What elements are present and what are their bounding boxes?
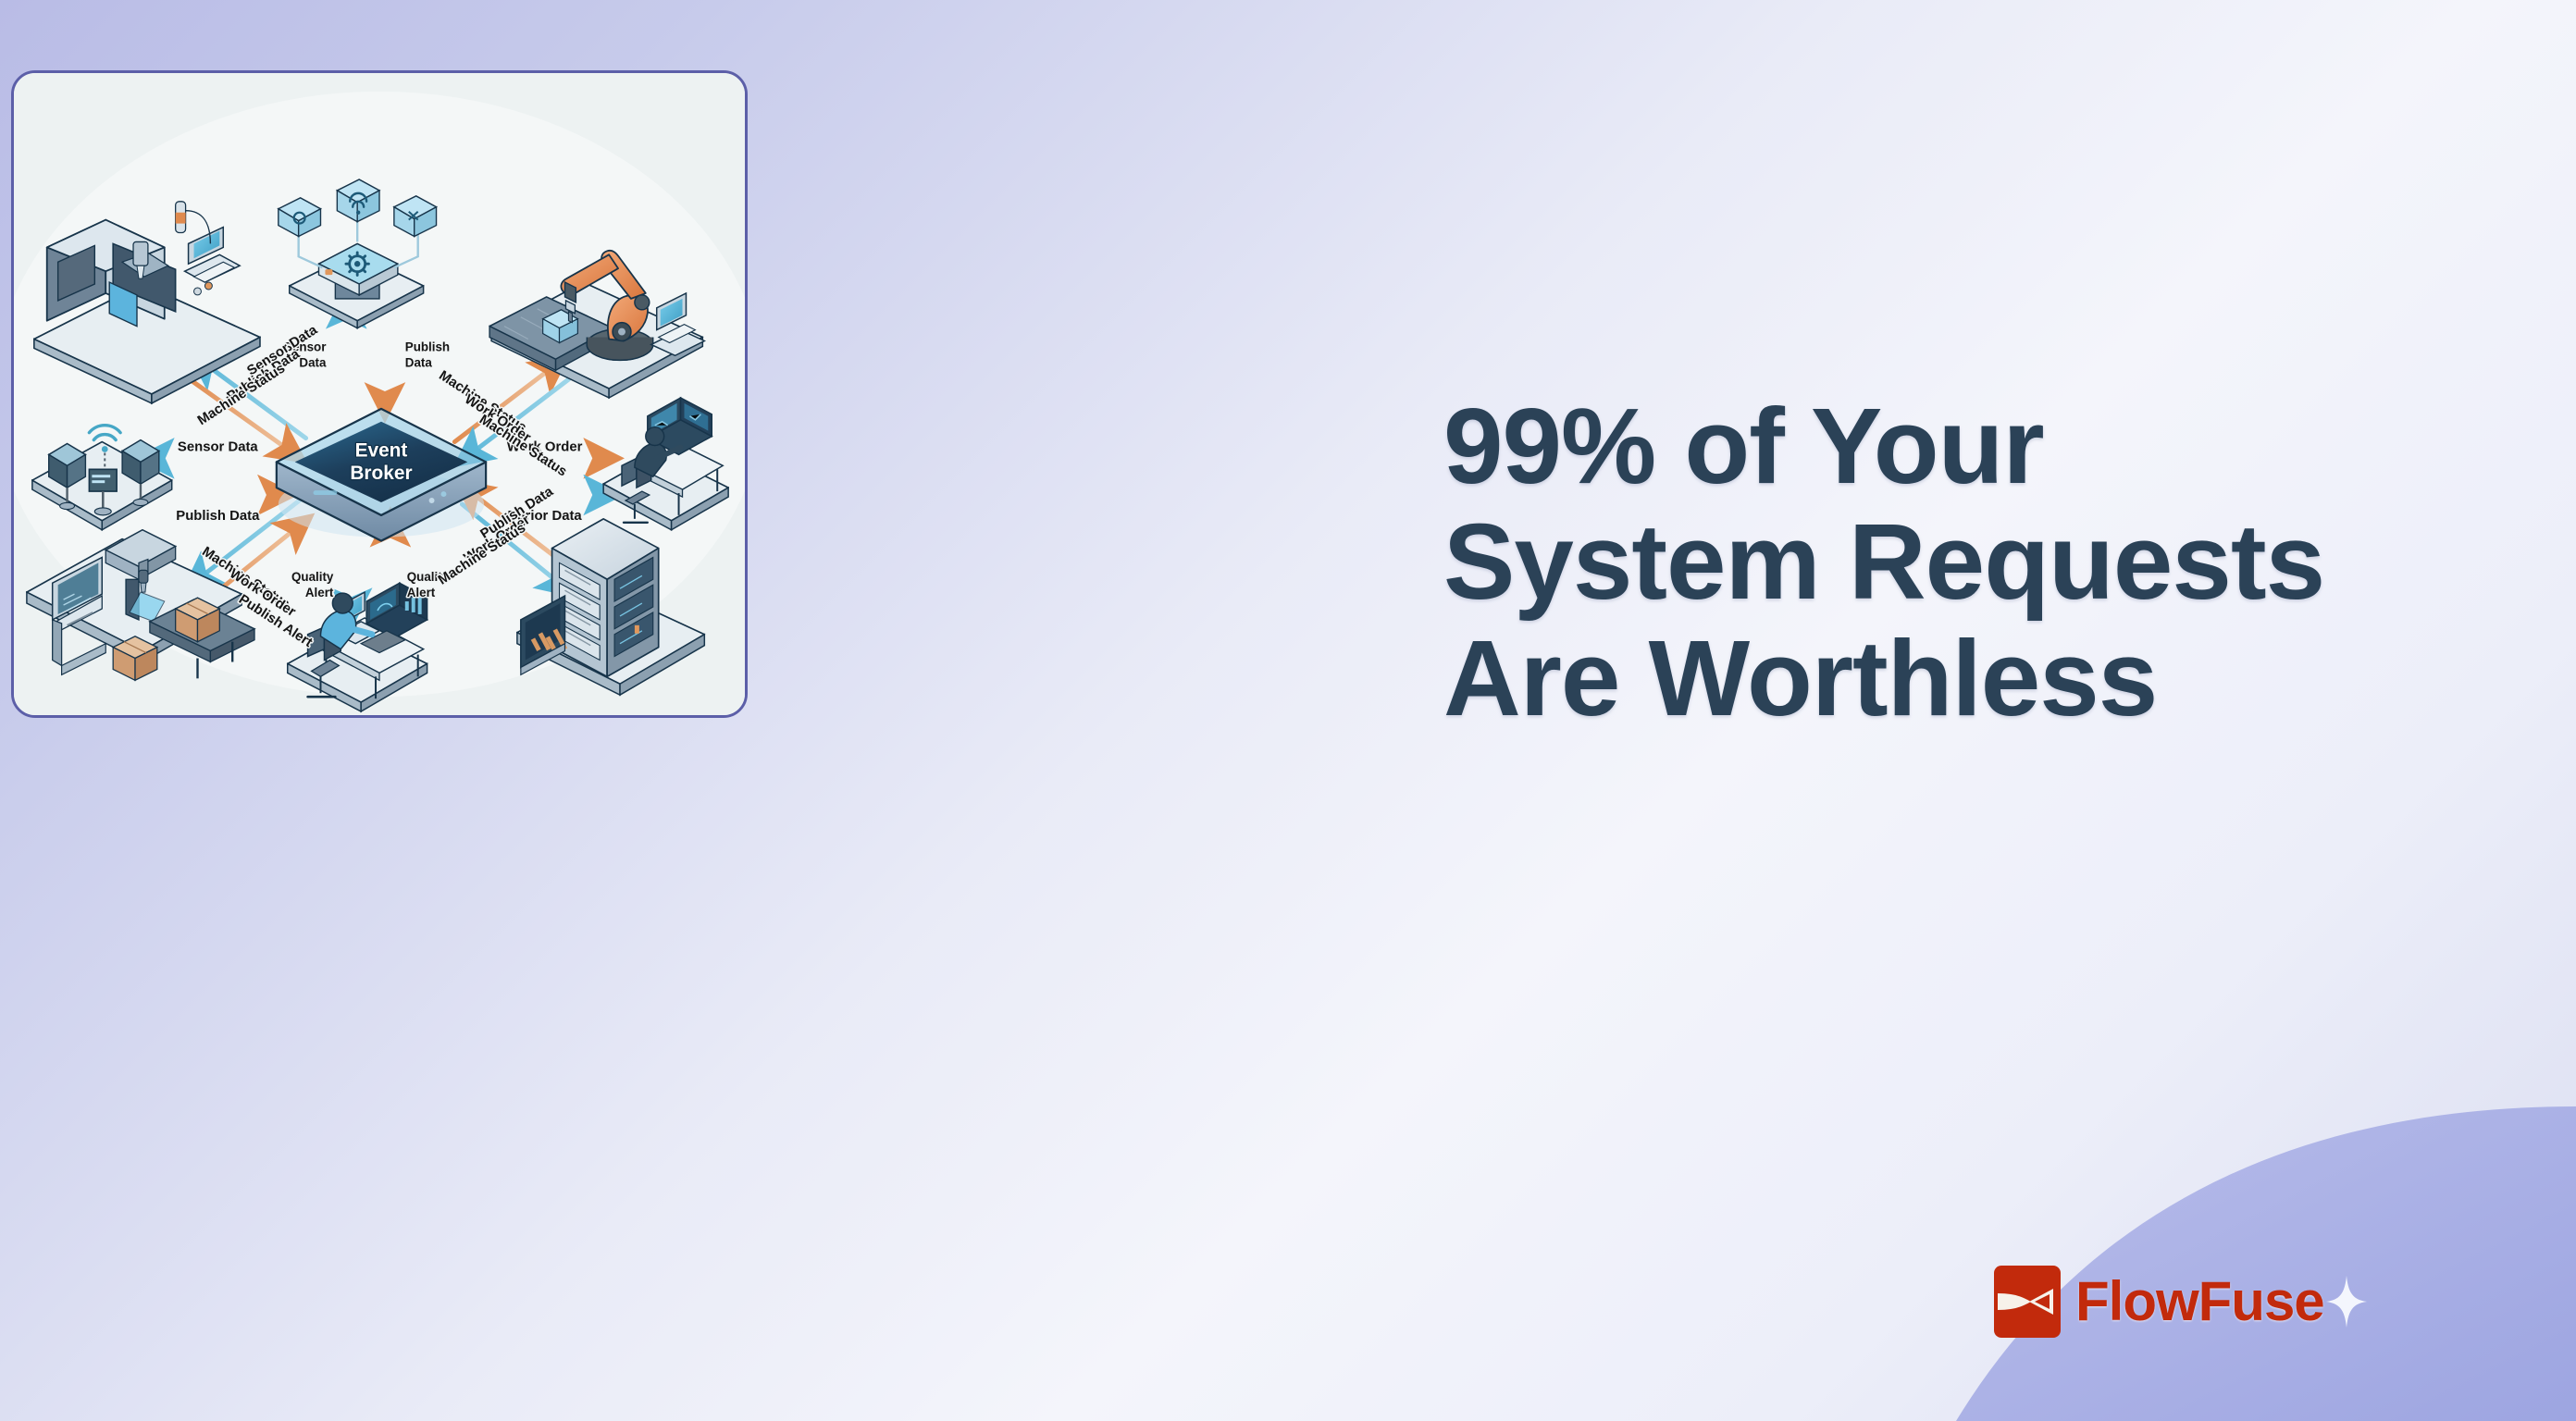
svg-text:Data: Data xyxy=(405,355,433,369)
svg-text:Quality: Quality xyxy=(291,570,334,584)
edge-label-left-out: Sensor Data xyxy=(178,439,258,454)
sparkle-icon xyxy=(2326,1276,2367,1328)
svg-text:Alert: Alert xyxy=(407,586,436,599)
hub-label-line1: Event xyxy=(355,439,408,461)
svg-text:Alert: Alert xyxy=(305,586,334,599)
event-broker-diagram: Event Broker xyxy=(14,73,745,715)
svg-text:Data: Data xyxy=(299,355,327,369)
page-title: 99% of Your System Requests Are Worthles… xyxy=(1443,389,2535,736)
svg-text:Publish: Publish xyxy=(405,340,450,353)
flowfuse-logo-mark xyxy=(1994,1266,2061,1338)
brand-name: FlowFuse xyxy=(2075,1274,2324,1329)
diagram-card: Event Broker xyxy=(11,70,748,718)
brand-logo-lockup[interactable]: FlowFuse xyxy=(1994,1266,2367,1338)
corner-wave-decoration xyxy=(1651,1051,2576,1421)
headline-line-3: Are Worthless xyxy=(1443,621,2535,736)
hub-label-line2: Broker xyxy=(350,463,412,484)
headline-line-1: 99% of Your xyxy=(1443,389,2535,504)
headline-line-2: System Requests xyxy=(1443,504,2535,620)
edge-label-left-in: Publish Data xyxy=(176,509,260,524)
gear-icon xyxy=(346,253,369,275)
